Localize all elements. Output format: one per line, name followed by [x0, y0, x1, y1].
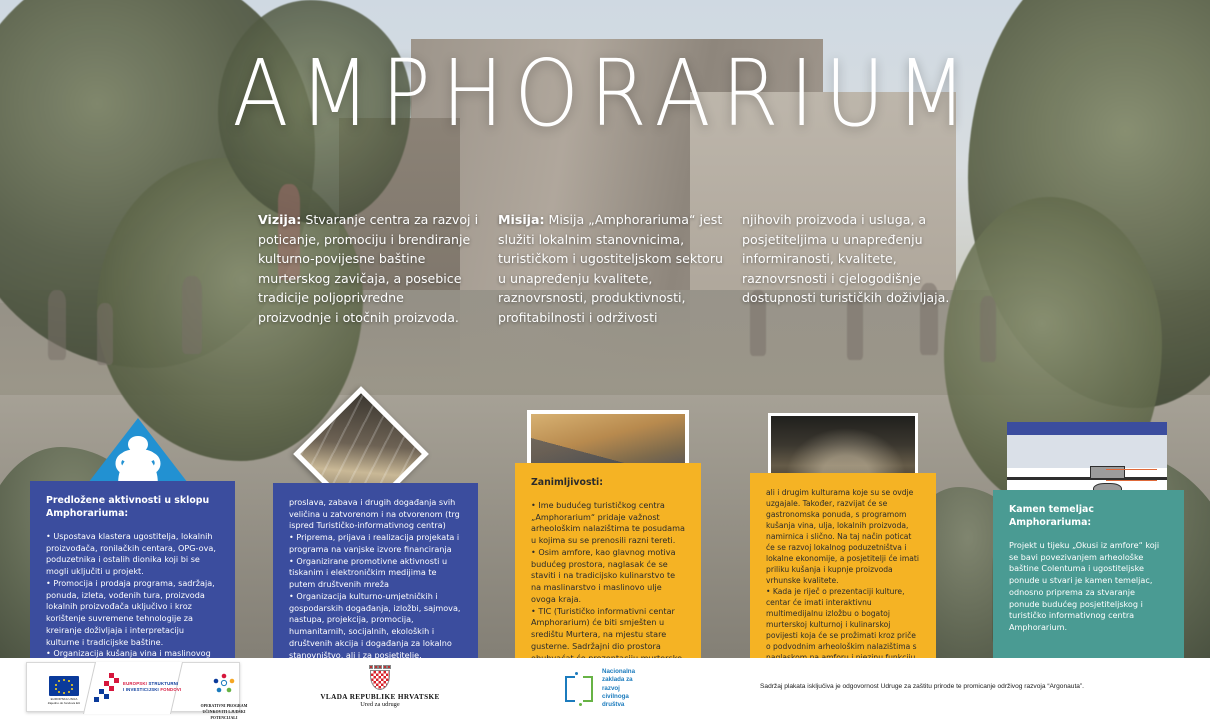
eu-funding-badge: EUROPSKA UNIJA Zajedno do fondova EU EUR…	[26, 662, 240, 712]
people-circle-icon	[211, 672, 237, 696]
eu-flag-caption: EUROPSKA UNIJA Zajedno do fondova EU	[35, 698, 93, 706]
nz-line-2: zaklada za	[602, 676, 635, 684]
cornerstone-body: Projekt u tijeku „Okusi iz amfore“ koji …	[1009, 540, 1168, 634]
nz-line-1: Nacionalna	[602, 668, 635, 676]
national-foundation-text: Nacionalna zaklada za razvoj civilnoga d…	[602, 668, 635, 710]
cornerstone-panel: Kamen temeljac Amphorariuma: Projekt u t…	[993, 490, 1184, 658]
facts-panel: Zanimljivosti: • Ime budućeg turističkog…	[515, 463, 701, 658]
croatia-coat-of-arms-icon	[368, 664, 392, 691]
esi-funds-text: EUROPSKI STRUKTURNI I INVESTICIJSKI FOND…	[123, 681, 181, 694]
esi-line1b: STRUKTURNI	[148, 681, 178, 686]
facts-continued-panel: ali i drugim kulturama koje su se ovdje …	[750, 473, 936, 658]
nz-line-4: civilnoga	[602, 693, 635, 701]
card-events: proslava, zabava i drugih događanja svih…	[273, 406, 478, 658]
government-office: Ured za udruge	[300, 701, 460, 708]
events-panel: proslava, zabava i drugih događanja svih…	[273, 483, 478, 658]
nz-line-3: razvoj	[602, 685, 635, 693]
card-row: Predložene aktivnosti u sklopu Amphorari…	[0, 0, 1210, 720]
section-box	[1090, 466, 1125, 478]
op-program-logo: OPERATIVNI PROGRAM UČINKOVITI LJUDSKI PO…	[195, 672, 253, 720]
government-logo: VLADA REPUBLIKE HRVATSKE Ured za udruge	[300, 664, 460, 708]
card-activities: Predložene aktivnosti u sklopu Amphorari…	[30, 418, 235, 658]
card-facts: Zanimljivosti: • Ime budućeg turističkog…	[515, 410, 701, 658]
poster-root: AMPHORARIUM Vizija: Stvaranje centra za …	[0, 0, 1210, 720]
esi-line1: EUROPSKI	[123, 681, 147, 686]
activities-panel: Predložene aktivnosti u sklopu Amphorari…	[30, 481, 235, 658]
footer-bar: EUROPSKA UNIJA Zajedno do fondova EU EUR…	[0, 658, 1210, 720]
disclaimer-text: Sadržaj plakata isključiva je odgovornos…	[760, 683, 1200, 692]
bracket-mark-icon	[562, 672, 596, 706]
eu-flag-icon	[49, 676, 79, 696]
government-name: VLADA REPUBLIKE HRVATSKE	[300, 693, 460, 701]
section-leader-line	[1106, 469, 1157, 470]
section-leader-line	[1106, 480, 1157, 481]
esi-dots-graphic	[93, 673, 121, 703]
op-program-caption: OPERATIVNI PROGRAM UČINKOVITI LJUDSKI PO…	[195, 703, 253, 720]
esi-line2b: FONDOVI	[160, 687, 181, 692]
card-cornerstone: Kamen temeljac Amphorariuma: Projekt u t…	[993, 422, 1184, 658]
activities-title: Predložene aktivnosti u sklopu Amphorari…	[46, 495, 219, 521]
cornerstone-title: Kamen temeljac Amphorariuma:	[1009, 504, 1168, 530]
national-foundation-logo: Nacionalna zaklada za razvoj civilnoga d…	[562, 668, 635, 710]
card-facts-continued: ali i drugim kulturama koje su se ovdje …	[750, 413, 936, 658]
events-body: proslava, zabava i drugih događanja svih…	[289, 497, 462, 661]
shield-checker	[370, 670, 390, 690]
esi-line2: I INVESTICIJSKI	[123, 687, 159, 692]
nz-line-5: društva	[602, 701, 635, 709]
facts-title: Zanimljivosti:	[531, 477, 685, 490]
